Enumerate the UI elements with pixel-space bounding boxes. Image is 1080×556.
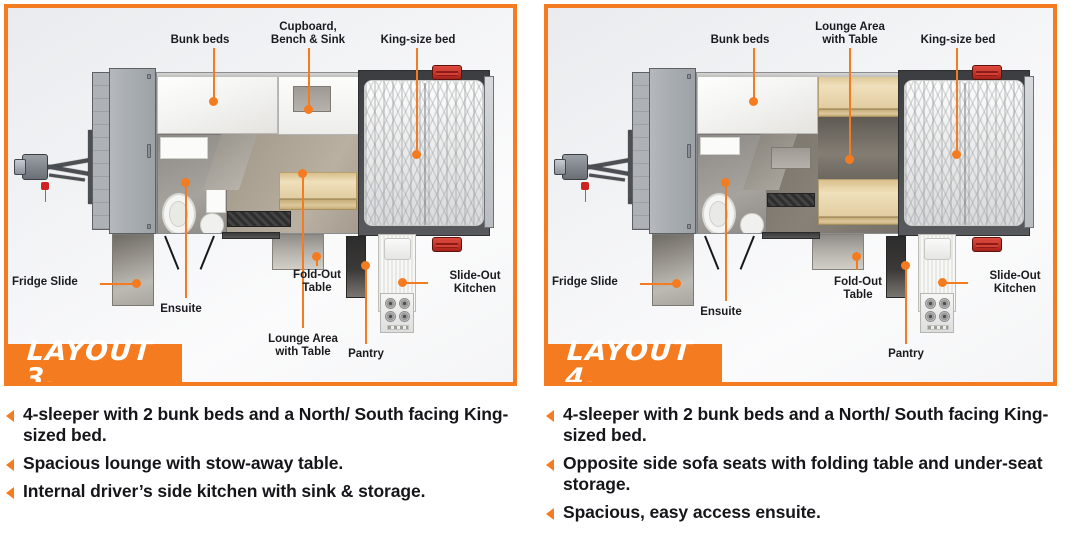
tail-light-bottom — [432, 237, 462, 252]
triangle-bullet-icon — [6, 410, 14, 422]
burner-4 — [399, 311, 410, 322]
burner-2 — [399, 298, 410, 309]
callout-lounge-area: Lounge Area with Table — [798, 21, 902, 47]
leader-lounge — [302, 174, 304, 328]
burner-3 — [385, 311, 396, 322]
callout-ensuite: Ensuite — [677, 306, 765, 319]
dot-slide-out-kitchen — [398, 278, 407, 287]
callout-fold-out-table: Fold-Out Table — [263, 269, 371, 295]
burner-1 — [385, 298, 396, 309]
dot-bunk-beds — [209, 97, 218, 106]
mattress-centre-seam — [424, 83, 426, 225]
stabiliser-leg-right — [200, 236, 215, 270]
ensuite-basin — [740, 213, 764, 234]
lounge-floor — [818, 117, 899, 179]
list-item-label: Internal driver’s side kitchen with sink… — [23, 481, 425, 502]
fridge-slide — [112, 234, 154, 306]
triangle-bullet-icon — [546, 508, 554, 520]
burner-1 — [925, 298, 936, 309]
sofa-seat-front — [818, 73, 899, 109]
cooktop-knobs — [927, 325, 949, 330]
leader-king-bed — [956, 48, 958, 153]
list-item-label: 4-sleeper with 2 bunk beds and a North/ … — [23, 404, 511, 446]
king-size-bed — [904, 80, 1024, 226]
jockey-wheel-stem — [585, 190, 586, 202]
leader-slide-out-kitchen — [946, 282, 968, 284]
front-box-latch-top — [147, 74, 151, 79]
front-box-latch-top — [687, 74, 691, 79]
layout-banner-3: LAYOUT 3. — [4, 344, 182, 386]
layout-banner-label-3: LAYOUT 3. — [24, 338, 158, 386]
ensuite-basin — [200, 213, 224, 234]
ensuite-vanity — [160, 137, 208, 159]
leader-bunk-beds — [213, 48, 215, 100]
front-box-latch-bottom — [147, 224, 151, 229]
dot-fridge-slide — [672, 279, 681, 288]
callout-fold-out-table: Fold-Out Table — [806, 276, 910, 302]
list-item-label: Opposite side sofa seats with folding ta… — [563, 453, 1056, 495]
hitch-cap — [554, 159, 566, 175]
dot-pantry — [901, 261, 910, 270]
rear-wall — [484, 76, 494, 228]
leader-slide-out-kitchen — [406, 282, 428, 284]
callout-fridge-slide: Fridge Slide — [552, 276, 648, 289]
triangle-bullet-icon — [546, 459, 554, 471]
outdoor-sink — [384, 238, 411, 260]
layout-panel-4: Bunk beds Lounge Area with Table King-si… — [544, 4, 1057, 386]
leader-cupboard — [308, 48, 310, 108]
shower-recess — [206, 187, 226, 213]
list-item: Spacious lounge with stow-away table. — [6, 453, 511, 474]
dot-king-bed — [412, 150, 421, 159]
dot-cupboard — [304, 105, 313, 114]
tail-light-top — [972, 65, 1002, 80]
rear-wall — [1024, 76, 1034, 228]
drawbar-stay — [589, 174, 625, 182]
callout-pantry: Pantry — [333, 348, 399, 361]
sofa-seat-front-base — [818, 109, 899, 117]
cooktop — [380, 293, 414, 333]
outdoor-sink — [924, 238, 951, 260]
ensuite-vanity — [700, 137, 740, 155]
front-panelling — [92, 72, 110, 230]
callout-pantry: Pantry — [873, 348, 939, 361]
leader-ensuite — [185, 183, 187, 298]
triangle-bullet-icon — [6, 459, 14, 471]
list-item-label: Spacious lounge with stow-away table. — [23, 453, 343, 474]
dot-bunk-beds — [749, 97, 758, 106]
list-item-label: 4-sleeper with 2 bunk beds and a North/ … — [563, 404, 1056, 446]
dot-lounge — [845, 155, 854, 164]
sofa-seat-rear-base — [818, 217, 899, 225]
leader-king-bed — [416, 48, 418, 153]
feature-list-3: 4-sleeper with 2 bunk beds and a North/ … — [6, 404, 511, 509]
sofa-seat-rear — [818, 179, 899, 217]
layout-banner-label-4: LAYOUT 4. — [564, 338, 698, 386]
list-item: 4-sleeper with 2 bunk beds and a North/ … — [6, 404, 511, 446]
burner-3 — [925, 311, 936, 322]
lounge-sofa-base — [279, 199, 357, 210]
interior-top-trim — [697, 73, 899, 77]
dot-fold-out-table — [312, 252, 321, 261]
drawbar-stay — [49, 174, 85, 182]
callout-king-size-bed: King-size bed — [903, 34, 1013, 47]
list-item: Opposite side sofa seats with folding ta… — [546, 453, 1056, 495]
cooktop-knobs — [387, 325, 409, 330]
list-item-label: Spacious, easy access ensuite. — [563, 502, 821, 523]
triangle-bullet-icon — [546, 410, 554, 422]
mattress-centre-seam — [964, 83, 966, 225]
dot-fridge-slide — [132, 279, 141, 288]
under-van-hatch — [762, 232, 820, 239]
front-panelling — [632, 72, 650, 230]
feature-list-4: 4-sleeper with 2 bunk beds and a North/ … — [546, 404, 1056, 530]
triangle-bullet-icon — [6, 487, 14, 499]
jockey-wheel-marker — [41, 182, 49, 190]
interior-top-trim — [157, 73, 359, 77]
jockey-wheel-stem — [45, 190, 46, 202]
front-box-handle — [687, 144, 691, 158]
stabiliser-leg-left — [704, 236, 719, 270]
kitchen-bench — [771, 147, 811, 169]
callout-slide-out-kitchen: Slide-Out Kitchen — [428, 270, 517, 296]
leader-ensuite — [725, 183, 727, 301]
king-size-bed — [364, 80, 484, 226]
dot-slide-out-kitchen — [938, 278, 947, 287]
layout-panel-3: Bunk beds Cupboard, Bench & Sink King-si… — [4, 4, 517, 386]
tail-light-bottom — [972, 237, 1002, 252]
front-box-handle — [147, 144, 151, 158]
leader-bunk-beds — [753, 48, 755, 100]
under-van-hatch — [222, 232, 280, 239]
dot-fold-out-table — [852, 252, 861, 261]
callout-bunk-beds: Bunk beds — [150, 34, 250, 47]
burner-2 — [939, 298, 950, 309]
layout-banner-4: LAYOUT 4. — [544, 344, 722, 386]
burner-4 — [939, 311, 950, 322]
callout-cupboard-bench-sink: Cupboard, Bench & Sink — [253, 21, 363, 47]
front-box-latch-bottom — [687, 224, 691, 229]
callout-bunk-beds: Bunk beds — [690, 34, 790, 47]
list-item: 4-sleeper with 2 bunk beds and a North/ … — [546, 404, 1056, 446]
stabiliser-leg-left — [164, 236, 179, 270]
list-item: Spacious, easy access ensuite. — [546, 502, 1056, 523]
layout-comparison-page: Bunk beds Cupboard, Bench & Sink King-si… — [0, 0, 1080, 556]
list-item: Internal driver’s side kitchen with sink… — [6, 481, 511, 502]
hitch-cap — [14, 159, 26, 175]
entry-step-mat — [767, 193, 815, 207]
callout-fridge-slide: Fridge Slide — [12, 276, 108, 289]
jockey-wheel-marker — [581, 182, 589, 190]
dot-ensuite — [721, 178, 730, 187]
dot-ensuite — [181, 178, 190, 187]
cooktop — [920, 293, 954, 333]
entry-step-mat — [227, 211, 291, 227]
lounge-sofa-back — [279, 172, 357, 199]
fridge-slide — [652, 234, 694, 306]
callout-king-size-bed: King-size bed — [363, 34, 473, 47]
leader-lounge — [849, 48, 851, 158]
callout-slide-out-kitchen: Slide-Out Kitchen — [968, 270, 1057, 296]
callout-ensuite: Ensuite — [137, 303, 225, 316]
dot-lounge — [298, 169, 307, 178]
dot-king-bed — [952, 150, 961, 159]
stabiliser-leg-right — [740, 236, 755, 270]
tail-light-top — [432, 65, 462, 80]
